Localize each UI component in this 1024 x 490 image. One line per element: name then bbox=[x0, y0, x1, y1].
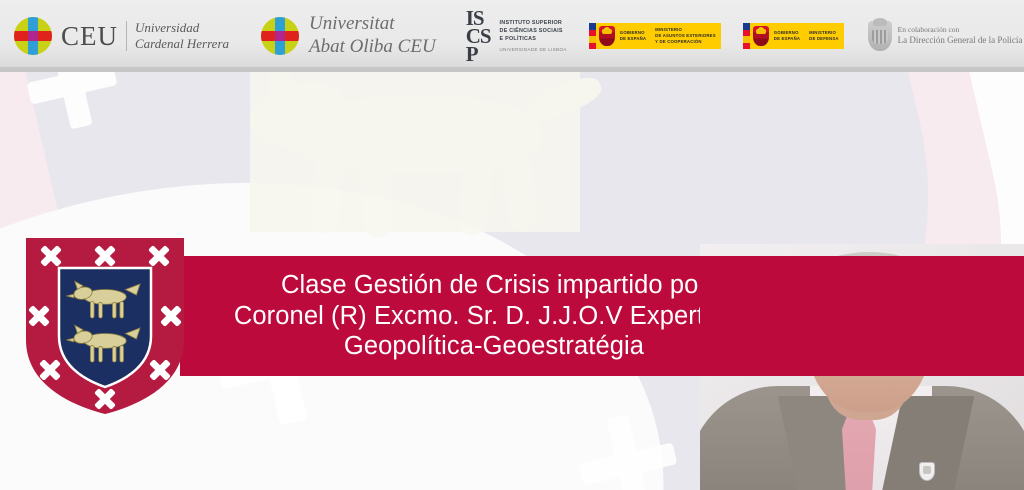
ceu-circle-mark-icon bbox=[14, 17, 52, 55]
logo-direccion-general-policia: En colaboración con La Dirección General… bbox=[868, 21, 1023, 51]
iscsp-monogram-icon: IS CS P bbox=[466, 9, 491, 63]
logo-gobierno-defensa: GOBIERNO DE ESPAÑA MINISTERIO DE DEFENSA bbox=[743, 23, 844, 49]
spain-crest-grey-icon bbox=[868, 21, 892, 51]
gobierno-line2: DE ESPAÑA bbox=[620, 36, 646, 42]
lapel-pin-icon bbox=[919, 462, 935, 481]
escudo-dos-lobos-icon bbox=[24, 236, 186, 416]
ceu-uch-subtitle-line2: Cardenal Herrera bbox=[135, 36, 229, 52]
iscsp-line3: E POLÍTICAS bbox=[500, 36, 567, 44]
gobierno-line2: DE ESPAÑA bbox=[774, 36, 800, 42]
ceu-uao-subtitle: Universitat Abat Oliba CEU bbox=[309, 13, 436, 59]
logo-iscsp: IS CS P INSTITUTO SUPERIOR DE CIÊNCIAS S… bbox=[466, 9, 567, 63]
iscsp-line1: INSTITUTO SUPERIOR bbox=[500, 20, 567, 28]
logo-gobierno-asuntos-exteriores: GOBIERNO DE ESPAÑA MINISTERIO DE ASUNTOS… bbox=[589, 23, 721, 49]
ministerio-line2: DE DEFENSA bbox=[809, 36, 839, 42]
gobierno-label: GOBIERNO DE ESPAÑA bbox=[620, 30, 646, 42]
policia-line1: En colaboración con bbox=[898, 25, 1023, 35]
logo-ceu-universitat-abat-oliba: Universitat Abat Oliba CEU bbox=[261, 13, 436, 59]
ceu-uch-subtitle: Universidad Cardenal Herrera bbox=[135, 20, 229, 53]
ceu-circle-mark-icon bbox=[261, 17, 299, 55]
ceu-uao-subtitle-line2: Abat Oliba CEU bbox=[309, 36, 436, 59]
iscsp-line2: DE CIÊNCIAS SOCIAIS bbox=[500, 28, 567, 36]
logo-ceu-universidad-cardenal-herrera: CEU Universidad Cardenal Herrera bbox=[14, 17, 229, 55]
partner-logo-bar: CEU Universidad Cardenal Herrera Univers… bbox=[0, 0, 1024, 72]
spain-coat-of-arms-icon bbox=[753, 26, 769, 46]
logo-divider bbox=[126, 21, 127, 51]
spain-flag-strip-icon bbox=[589, 23, 596, 49]
ministerio-line3: Y DE COOPERACIÓN bbox=[655, 39, 716, 45]
spain-coat-of-arms-icon bbox=[599, 26, 615, 46]
crest-emblem bbox=[24, 236, 186, 416]
spain-flag-strip-icon bbox=[743, 23, 750, 49]
ministerio-label: MINISTERIO DE ASUNTOS EXTERIORES Y DE CO… bbox=[655, 27, 716, 44]
ceu-wordmark: CEU bbox=[61, 23, 118, 50]
ceu-uch-subtitle-line1: Universidad bbox=[135, 20, 229, 36]
iscsp-line4: UNIVERSIDADE DE LISBOA bbox=[500, 47, 567, 52]
hero-section: Clase Gestión de Crisis impartido por Co… bbox=[0, 72, 1024, 490]
gobierno-label: GOBIERNO DE ESPAÑA bbox=[774, 30, 800, 42]
title-banner-overlap bbox=[700, 256, 1024, 376]
ceu-uao-subtitle-line1: Universitat bbox=[309, 13, 436, 36]
policia-line2: La Dirección General de la Policía bbox=[898, 35, 1023, 47]
iscsp-text: INSTITUTO SUPERIOR DE CIÊNCIAS SOCIAIS E… bbox=[500, 20, 567, 51]
ministerio-label: MINISTERIO DE DEFENSA bbox=[809, 30, 839, 42]
